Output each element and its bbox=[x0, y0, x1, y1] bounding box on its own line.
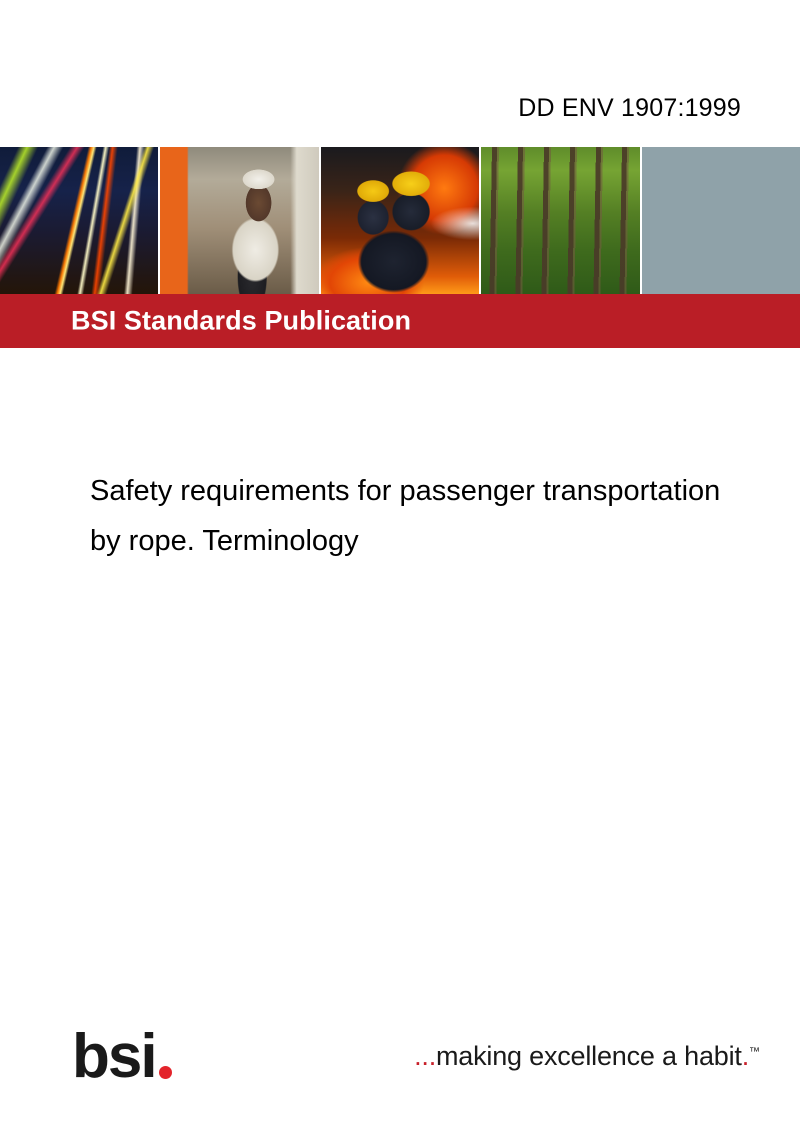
bsi-logo: bsi bbox=[72, 1032, 172, 1082]
standards-publication-banner: BSI Standards Publication bbox=[0, 294, 800, 348]
bsi-tagline: ...making excellence a habit.™ bbox=[414, 1041, 760, 1072]
cover-photo-strip bbox=[0, 147, 800, 294]
page-title-line-1: Safety requirements for passenger transp… bbox=[90, 466, 800, 516]
photo-panel-firefighters bbox=[321, 147, 481, 294]
tagline-leading-dots: ... bbox=[414, 1041, 436, 1071]
tagline-period: . bbox=[742, 1041, 749, 1071]
photo-panel-warehouse-worker bbox=[160, 147, 320, 294]
bsi-standard-cover-page: { "document": { "number": "DD ENV 1907:1… bbox=[0, 0, 800, 1132]
trademark-icon: ™ bbox=[749, 1046, 760, 1058]
bsi-logo-wordmark: bsi bbox=[72, 1032, 156, 1082]
photo-panel-night-traffic-light-trails bbox=[0, 147, 160, 294]
photo-panel-car-assembly-line bbox=[642, 147, 800, 294]
document-number: DD ENV 1907:1999 bbox=[518, 94, 741, 123]
tagline-text: making excellence a habit bbox=[436, 1041, 742, 1071]
banner-label: BSI Standards Publication bbox=[71, 306, 411, 337]
page-title: Safety requirements for passenger transp… bbox=[90, 466, 800, 566]
bsi-logo-dot-icon bbox=[159, 1066, 172, 1079]
photo-panel-pine-forest bbox=[481, 147, 641, 294]
page-title-line-2: by rope. Terminology bbox=[90, 516, 800, 566]
